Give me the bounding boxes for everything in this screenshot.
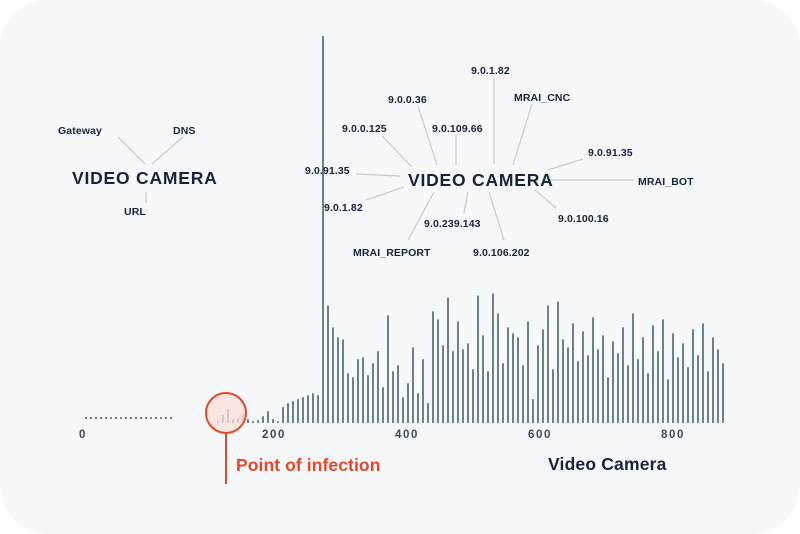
chart-bar: [577, 361, 579, 423]
chart-bar: [522, 365, 524, 423]
right-diagram-leader-line: [356, 174, 400, 176]
chart-bar: [357, 359, 359, 423]
chart-bar: [272, 419, 274, 423]
chart-bar: [597, 349, 599, 423]
chart-bar: [377, 351, 379, 423]
chart-bar: [477, 295, 479, 423]
chart-bar: [552, 369, 554, 423]
x-axis-tick: 0: [79, 430, 87, 442]
chart-bar: [317, 395, 319, 423]
x-axis-tick: 200: [262, 430, 286, 442]
right-diagram-leader-line: [535, 190, 556, 208]
chart-bar: [437, 319, 439, 423]
infographic-canvas: VIDEO CAMERA GatewayDNSURL VIDEO CAMERA …: [0, 0, 800, 534]
point-of-infection-label: Point of infection: [236, 457, 380, 475]
chart-bar: [417, 393, 419, 423]
chart-bar: [687, 367, 689, 423]
chart-bar: [387, 315, 389, 423]
right-diagram-node-label: 9.0.91.35: [305, 166, 350, 177]
x-axis-tick: 800: [661, 430, 685, 442]
chart-bar: [642, 337, 644, 423]
marker-circle[interactable]: [206, 393, 246, 433]
chart-bar: [717, 349, 719, 423]
chart-bar: [487, 371, 489, 423]
x-axis-tick: 600: [528, 430, 552, 442]
chart-bar: [572, 323, 574, 423]
right-diagram-leader-line: [366, 187, 404, 200]
chart-bar: [652, 325, 654, 423]
left-diagram-leader-line: [118, 137, 145, 164]
chart-bar: [467, 343, 469, 423]
chart-bar: [632, 313, 634, 423]
chart-bar: [502, 363, 504, 423]
chart-bar: [267, 411, 269, 423]
chart-bar: [547, 305, 549, 423]
left-diagram-node-label: URL: [124, 207, 146, 218]
chart-bar: [692, 329, 694, 423]
chart-bar: [452, 351, 454, 423]
chart-bar: [537, 345, 539, 423]
right-diagram-leader-line: [408, 192, 434, 240]
chart-bar: [592, 317, 594, 423]
chart-bar: [672, 333, 674, 423]
chart-bar: [722, 363, 724, 423]
chart-bar: [462, 349, 464, 423]
right-diagram-node-label: 9.0.109.66: [432, 124, 483, 135]
chart-bar: [622, 327, 624, 423]
right-diagram-leader-line: [464, 192, 468, 213]
right-diagram-node-label: 9.0.100.16: [558, 214, 609, 225]
chart-bar: [402, 397, 404, 423]
chart-bar: [562, 339, 564, 423]
chart-bar: [497, 313, 499, 423]
chart-bar: [617, 353, 619, 423]
chart-bar: [367, 375, 369, 423]
chart-bar: [257, 420, 259, 423]
right-diagram-node-label: MRAI_BOT: [638, 177, 694, 188]
chart-bar: [542, 329, 544, 423]
right-diagram-node-label: 9.0.91.35: [588, 148, 633, 159]
right-diagram-node-label: 9.0.106.202: [473, 248, 530, 259]
chart-bar: [392, 371, 394, 423]
chart-bar: [657, 351, 659, 423]
chart-bar: [322, 36, 324, 423]
chart-bar: [412, 347, 414, 423]
chart-bar: [282, 407, 284, 423]
chart-bar: [707, 371, 709, 423]
chart-bar: [292, 401, 294, 423]
chart-bar: [262, 416, 264, 423]
right-diagram-leader-line: [548, 159, 583, 170]
chart-bar: [677, 357, 679, 423]
chart-bar: [442, 345, 444, 423]
chart-bar: [612, 341, 614, 423]
bar-chart: [0, 0, 800, 534]
chart-bar: [247, 419, 249, 423]
chart-bar: [382, 387, 384, 423]
chart-bar: [447, 297, 449, 423]
right-diagram-leader-line: [382, 136, 412, 167]
chart-bar: [327, 305, 329, 423]
chart-bar: [517, 337, 519, 423]
chart-bar: [277, 421, 279, 423]
chart-bar: [527, 321, 529, 423]
chart-x-axis-label: Video Camera: [548, 456, 667, 474]
chart-bar: [582, 331, 584, 423]
chart-bar: [482, 335, 484, 423]
chart-bar: [372, 363, 374, 423]
right-diagram-node-label: 9.0.1.82: [471, 66, 510, 77]
chart-bar: [682, 343, 684, 423]
chart-bar: [627, 365, 629, 423]
left-diagram-leader-line: [152, 137, 183, 164]
chart-bar: [702, 323, 704, 423]
left-diagram-node-label: DNS: [173, 126, 195, 137]
chart-bar: [297, 399, 299, 423]
chart-bar: [492, 293, 494, 423]
chart-bar: [512, 333, 514, 423]
chart-bar: [697, 355, 699, 423]
chart-bar: [422, 359, 424, 423]
right-diagram-node-label: MRAI_REPORT: [353, 248, 431, 259]
left-diagram-node-label: Gateway: [58, 126, 102, 137]
right-diagram-leader-line: [489, 192, 504, 240]
chart-bar: [252, 421, 254, 423]
chart-bar: [712, 337, 714, 423]
chart-bar: [472, 369, 474, 423]
chart-bar: [337, 337, 339, 423]
right-diagram-node-label: 9.0.1.82: [324, 203, 363, 214]
right-diagram-leader-line: [513, 104, 532, 165]
chart-bar: [307, 395, 309, 423]
right-diagram-node-label: 9.0.239.143: [424, 219, 481, 230]
chart-bar: [637, 359, 639, 423]
chart-bar: [457, 321, 459, 423]
left-hub-label: VIDEO CAMERA: [72, 170, 218, 188]
chart-bar: [287, 403, 289, 423]
chart-bar: [342, 339, 344, 423]
chart-bar: [587, 355, 589, 423]
chart-bar: [667, 379, 669, 423]
right-diagram-node-label: MRAI_CNC: [514, 93, 570, 104]
chart-bar: [352, 377, 354, 423]
right-diagram-node-label: 9.0.0.125: [342, 124, 387, 135]
right-diagram-node-label: 9.0.0.36: [388, 95, 427, 106]
x-axis-tick: 400: [395, 430, 419, 442]
chart-bar: [432, 311, 434, 423]
right-hub-label: VIDEO CAMERA: [408, 172, 554, 190]
chart-bar: [362, 357, 364, 423]
chart-bar: [507, 327, 509, 423]
chart-bar: [662, 319, 664, 423]
chart-bar: [312, 393, 314, 423]
chart-bar: [557, 301, 559, 423]
chart-bar: [397, 365, 399, 423]
chart-bar: [602, 335, 604, 423]
chart-bar: [427, 403, 429, 423]
right-diagram-leader-line: [418, 106, 437, 165]
chart-bar: [407, 383, 409, 423]
chart-bar: [567, 347, 569, 423]
chart-bar: [302, 397, 304, 423]
chart-bar: [532, 399, 534, 423]
chart-bar: [647, 373, 649, 423]
chart-bar: [332, 327, 334, 423]
chart-bar: [347, 373, 349, 423]
chart-bar: [607, 377, 609, 423]
